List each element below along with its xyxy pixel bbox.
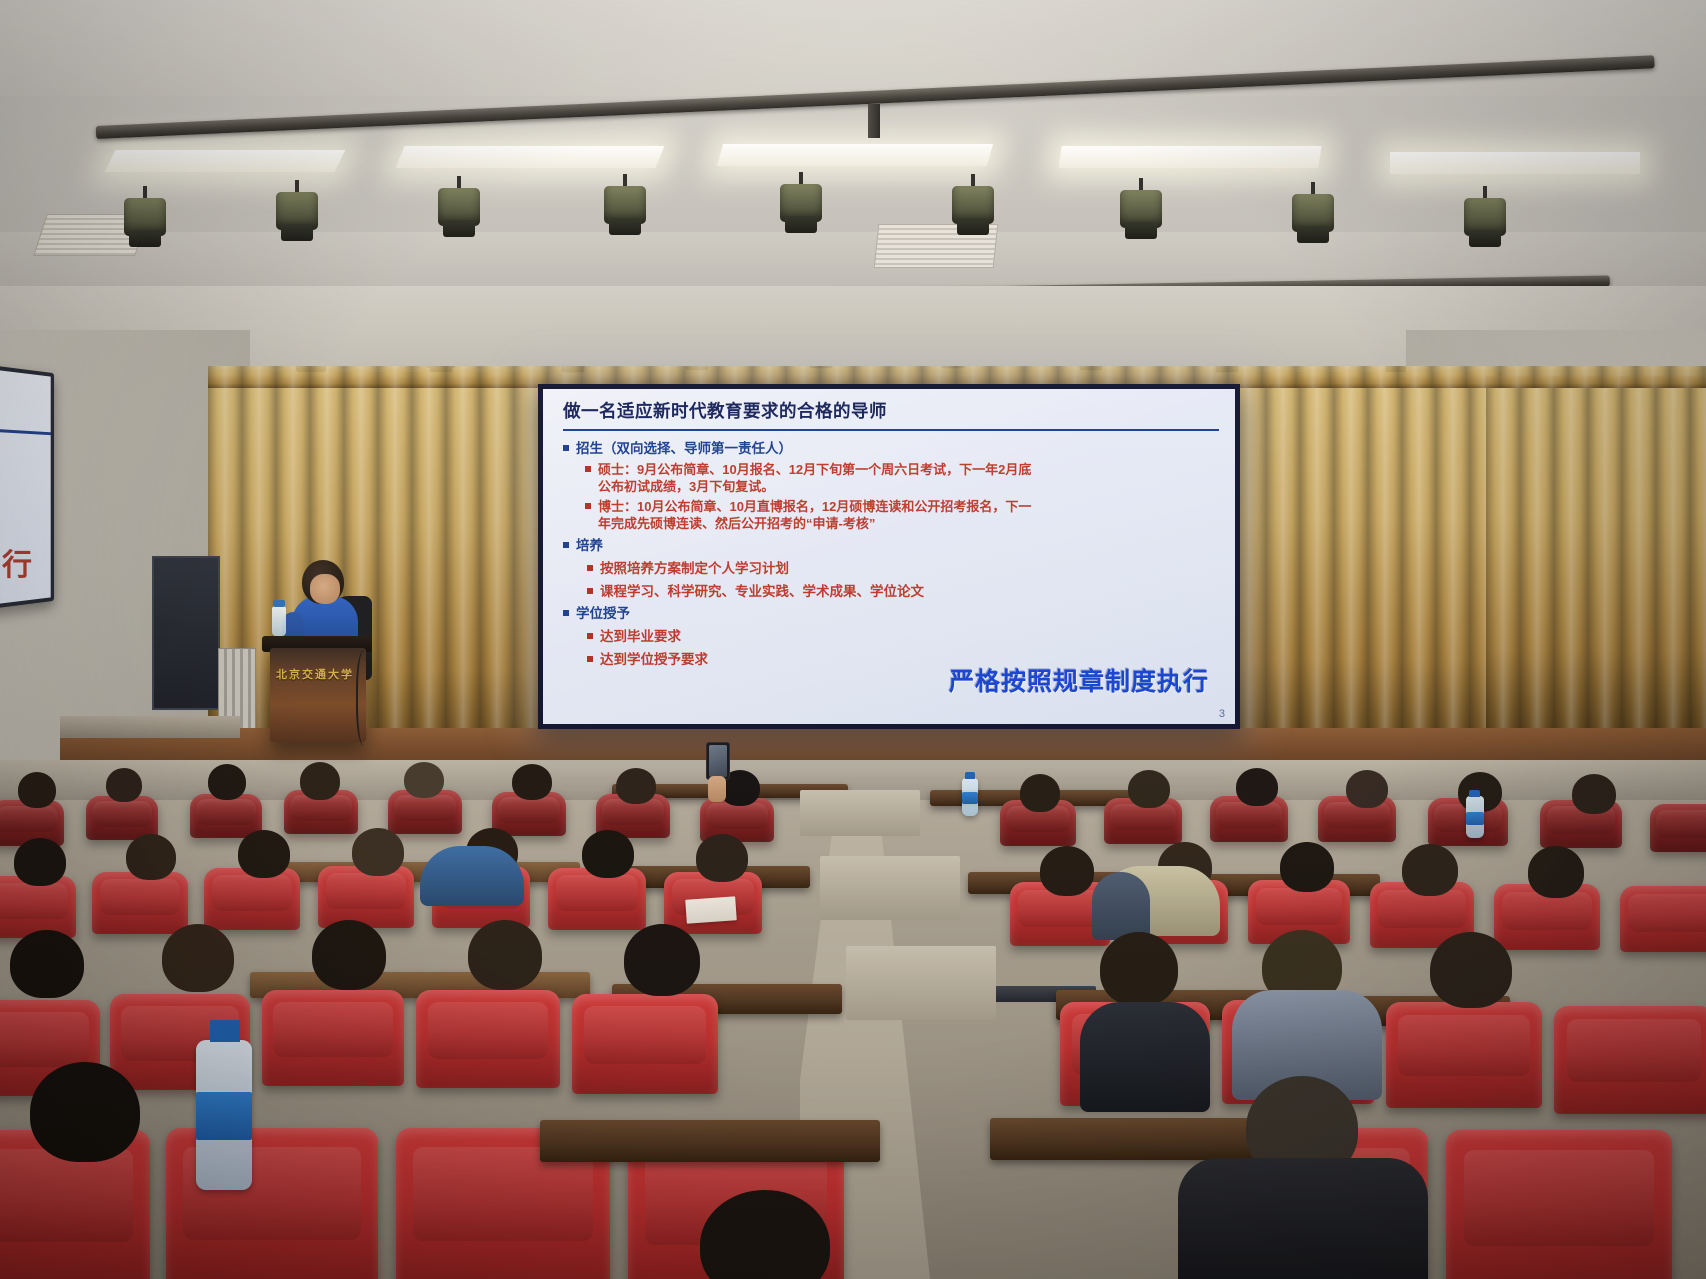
stage-lamp-icon (604, 184, 646, 238)
audience-head (1100, 932, 1178, 1006)
bullet-text: 招生（双向选择、导师第一责任人） (576, 441, 792, 456)
podium-university-logo: 北京交通大学 (276, 666, 354, 682)
audience-head (582, 830, 634, 878)
bullet-square-icon (563, 542, 569, 548)
audience-head (312, 920, 386, 990)
bottle-label (1466, 812, 1484, 825)
stage-curtain-left (208, 372, 548, 752)
stage-step (60, 716, 240, 738)
smartphone-icon[interactable] (706, 742, 730, 780)
ceiling-panel (0, 0, 1706, 96)
stage-lamp-icon (276, 190, 318, 244)
audience-head (1236, 768, 1278, 806)
bullet-text: 硕士：9月公布简章、10月报名、12月下旬第一个周六日考试，下一年2月底 (598, 462, 1031, 477)
bullet-square-icon (585, 503, 591, 509)
seat[interactable] (1554, 1006, 1706, 1114)
audience-head (468, 920, 542, 990)
slide-bullet-level2: 博士：10月公布简章、10月直博报名，12月硕博连读和公开招考报名，下一 年完成… (585, 498, 1219, 532)
bullet-square-icon (587, 565, 593, 571)
bullet-text: 达到学位授予要求 (600, 652, 708, 667)
water-bottle-icon (1466, 796, 1484, 838)
seat[interactable] (572, 994, 718, 1094)
bullet-text: 按照培养方案制定个人学习计划 (600, 561, 789, 576)
slide-bullet-level1: 学位授予 (563, 605, 1219, 623)
audience-shoulders (420, 846, 524, 906)
slide-bullet-level2: 达到毕业要求 (587, 628, 1219, 646)
slide-bullet-level2: 按照培养方案制定个人学习计划 (587, 560, 1219, 578)
seat[interactable] (548, 868, 646, 930)
audience-head (162, 924, 234, 992)
bullet-text: 达到毕业要求 (600, 629, 681, 644)
slide-page-number: 3 (1219, 708, 1225, 720)
bullet-square-icon (585, 466, 591, 472)
audience-head (1430, 932, 1512, 1008)
bullet-square-icon (587, 588, 593, 594)
audience-shoulders (1080, 1002, 1210, 1112)
desk-panel (800, 790, 920, 836)
audience-head (1040, 846, 1094, 896)
speaker-face (310, 574, 340, 604)
title-divider (563, 429, 1219, 431)
microphone-cable (356, 650, 376, 746)
bullet-text: 博士：10月公布简章、10月直博报名，12月硕博连读和公开招考报名，下一 (598, 499, 1031, 514)
bullet-square-icon (587, 633, 593, 639)
paper-sheet (685, 896, 737, 923)
audience-head (1280, 842, 1334, 892)
side-screen-text-echo: 行 (2, 540, 32, 584)
bottle-cap-icon (273, 600, 285, 607)
slide-emphasis-stamp: 严格按照规章制度执行 (949, 662, 1209, 698)
audience-head (1572, 774, 1616, 814)
projection-screen: 做一名适应新时代教育要求的合格的导师 招生（双向选择、导师第一责任人） 硕士：9… (538, 384, 1240, 729)
audience-head (10, 930, 84, 998)
audience-shoulders (1092, 872, 1150, 940)
bottle-cap-icon (210, 1020, 240, 1042)
bullet-text: 课程学习、科学研究、专业实践、学术成果、学位论文 (600, 584, 924, 599)
seat[interactable] (262, 990, 404, 1086)
presentation-slide: 做一名适应新时代教育要求的合格的导师 招生（双向选择、导师第一责任人） 硕士：9… (543, 389, 1235, 724)
audience-head (126, 834, 176, 880)
slide-bullet-level2: 课程学习、科学研究、专业实践、学术成果、学位论文 (587, 583, 1219, 601)
audience-head (18, 772, 56, 808)
stage-curtain-right (1232, 372, 1502, 740)
audience-head (238, 830, 290, 878)
stage-lamp-icon (1120, 188, 1162, 242)
truss-post (868, 104, 880, 138)
stage-lamp-icon (1292, 192, 1334, 246)
audience-head (624, 924, 700, 996)
bullet-square-icon (563, 610, 569, 616)
audience-head (696, 834, 748, 882)
desk-panel (846, 946, 996, 1020)
ceiling-light-strip (717, 144, 993, 166)
seat[interactable] (1650, 804, 1706, 852)
audience-head (1346, 770, 1388, 808)
desk-panel (820, 856, 960, 920)
audience-head (300, 762, 340, 800)
audience-head (1528, 846, 1584, 898)
water-bottle-icon (272, 606, 286, 636)
seat[interactable] (190, 794, 262, 838)
stage-lamp-icon (952, 184, 994, 238)
seat[interactable] (1620, 886, 1706, 952)
bottle-cap-icon (965, 772, 975, 779)
bullet-text-continued: 公布初试成绩，3月下旬复试。 (598, 478, 1219, 495)
bullet-square-icon (563, 445, 569, 451)
stage-lamp-icon (124, 196, 166, 250)
bottle-cap-icon (1469, 790, 1480, 797)
desk-row (540, 1120, 880, 1162)
bullet-text: 学位授予 (576, 606, 630, 621)
stage-curtain-far-right (1486, 376, 1706, 728)
ceiling-light-strip (396, 146, 665, 168)
ceiling-light-strip (1390, 152, 1640, 174)
podium (270, 648, 366, 742)
slide-bullet-level1: 招生（双向选择、导师第一责任人） (563, 440, 1219, 458)
audience-head (616, 768, 656, 804)
ceiling-light-strip (105, 150, 346, 172)
audience-head (512, 764, 552, 800)
audience-head (404, 762, 444, 798)
seat[interactable] (204, 868, 300, 930)
audience-head (1402, 844, 1458, 896)
audience-head (14, 838, 66, 886)
audience-shoulders (1178, 1158, 1428, 1279)
lecture-hall-photo: 行 行 北京交通大学 做一名适应新时代教育要求的合格的导师 招生（双向选择、导师… (0, 0, 1706, 1279)
audience-head (1128, 770, 1170, 808)
bullet-text: 培养 (576, 538, 603, 553)
seat[interactable] (1446, 1130, 1672, 1279)
stage-door[interactable] (152, 556, 220, 710)
audience-head (106, 768, 142, 802)
water-bottle-icon (196, 1040, 252, 1190)
audience-head (30, 1062, 140, 1162)
audience-head (208, 764, 246, 800)
audience-head (352, 828, 404, 876)
seat[interactable] (92, 872, 188, 934)
bottle-label (196, 1092, 252, 1140)
stage-lamp-icon (1464, 196, 1506, 250)
seat[interactable] (1386, 1002, 1542, 1108)
bottle-label (962, 792, 978, 804)
seat[interactable] (416, 990, 560, 1088)
audience-head (1020, 774, 1060, 812)
slide-title: 做一名适应新时代教育要求的合格的导师 (563, 401, 1219, 422)
seat[interactable] (318, 866, 414, 928)
bullet-square-icon (587, 656, 593, 662)
water-bottle-icon (962, 778, 978, 816)
slide-bullet-level2: 硕士：9月公布简章、10月报名、12月下旬第一个周六日考试，下一年2月底 公布初… (585, 461, 1219, 495)
raised-hand (708, 776, 726, 802)
bullet-text-continued: 年完成先硕博连读、然后公开招考的“申请-考核” (598, 515, 1219, 532)
slide-bullet-level1: 培养 (563, 537, 1219, 555)
ceiling-light-strip (1058, 146, 1321, 168)
stage-lamp-icon (438, 186, 480, 240)
stage-lamp-icon (780, 182, 822, 236)
